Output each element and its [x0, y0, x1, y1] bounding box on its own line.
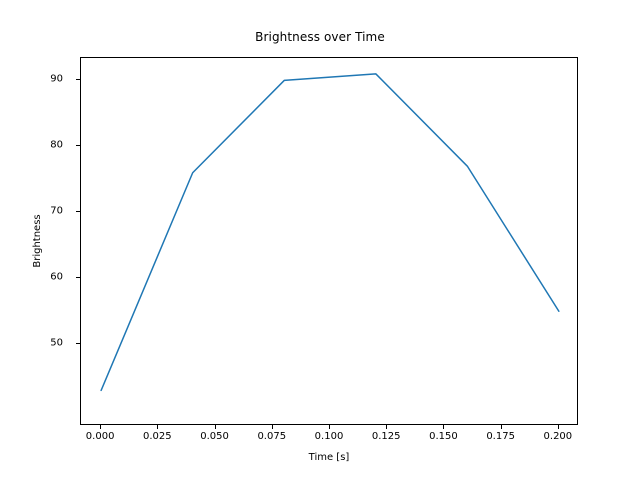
- x-tick-mark: [215, 425, 216, 429]
- x-tick-label: 0.025: [127, 431, 187, 442]
- y-tick-mark: [76, 343, 80, 344]
- x-tick-label: 0.100: [299, 431, 359, 442]
- x-tick-mark: [272, 425, 273, 429]
- x-tick-label: 0.050: [185, 431, 245, 442]
- plot-area: [80, 57, 578, 425]
- chart-figure: Brightness over Time 5060708090 0.0000.0…: [0, 0, 640, 480]
- x-tick-mark: [157, 425, 158, 429]
- y-tick-mark: [76, 145, 80, 146]
- y-axis-label: Brightness: [32, 57, 46, 425]
- y-tick-mark: [76, 277, 80, 278]
- x-tick-label: 0.075: [242, 431, 302, 442]
- y-tick-mark: [76, 211, 80, 212]
- x-tick-label: 0.175: [471, 431, 531, 442]
- x-tick-label: 0.200: [528, 431, 588, 442]
- x-axis-label: Time [s]: [80, 452, 578, 463]
- x-tick-mark: [329, 425, 330, 429]
- x-tick-label: 0.125: [356, 431, 416, 442]
- x-tick-mark: [501, 425, 502, 429]
- x-tick-mark: [100, 425, 101, 429]
- line-series-svg: [81, 58, 579, 426]
- brightness-line: [101, 74, 559, 391]
- x-tick-mark: [443, 425, 444, 429]
- x-tick-mark: [386, 425, 387, 429]
- y-tick-mark: [76, 79, 80, 80]
- x-tick-mark: [558, 425, 559, 429]
- chart-title: Brightness over Time: [0, 30, 640, 44]
- x-tick-label: 0.150: [413, 431, 473, 442]
- x-tick-label: 0.000: [70, 431, 130, 442]
